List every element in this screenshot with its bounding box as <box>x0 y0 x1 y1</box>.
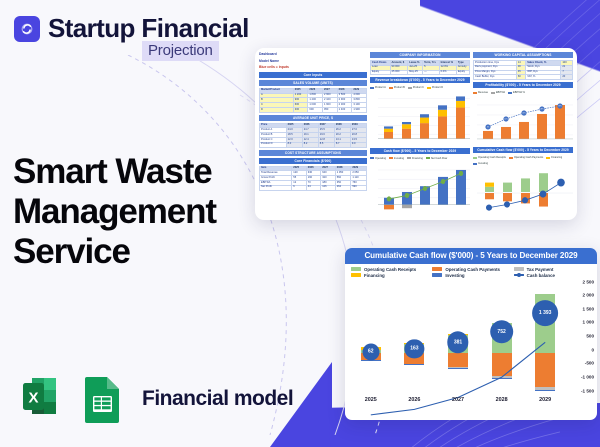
legend-item: Financing <box>546 156 562 159</box>
legend-item: Product C <box>408 86 424 89</box>
section-core-financials: Core Financials ($'000) <box>259 158 367 164</box>
x-axis-tick: 2028 <box>480 397 524 409</box>
google-sheets-icon <box>81 373 127 425</box>
y-axis-tick: 2 500 <box>583 279 595 284</box>
legend-item-tax-payment: Tax Payment <box>514 267 592 272</box>
y-axis-tick: -1 000 <box>581 374 594 379</box>
x-axis-tick: 2027 <box>436 397 480 409</box>
sales-volume-table: Market/Product20252026202720282029 A1 20… <box>259 88 367 113</box>
legend-label: Cash balance <box>527 273 555 278</box>
y-axis-tick: 1 000 <box>583 320 595 325</box>
x-axis-tick: 2029 <box>523 397 567 409</box>
legend-item: Product A <box>370 86 386 89</box>
swirl-glyph <box>18 20 36 38</box>
legend-label: Investing <box>445 273 464 278</box>
mini-legend-profitability: Revenue EBITDA EBITDA % <box>473 90 573 95</box>
table-row: Net Profit644126262590 <box>260 185 367 190</box>
mini-chart-profitability: 4%12%21% 29%37% <box>473 97 573 145</box>
legend-item: Revenue <box>473 91 488 94</box>
legend-swatch <box>351 273 361 277</box>
table-row: Equity45 000May-25—0.0%Equity <box>371 70 470 75</box>
dashboard-subtitle: Model Name <box>259 59 367 64</box>
dashboard-note: Blue cells = inputs <box>259 65 367 70</box>
legend-item: EBITDA <box>491 91 505 94</box>
page-title: Smart Waste Management Service <box>13 152 263 272</box>
dashboard-inputs-column: Dashboard Model Name Blue cells = inputs… <box>259 52 367 216</box>
table-row: D3006009501 4001 900 <box>260 107 367 112</box>
dashboard-preview-card[interactable]: Dashboard Model Name Blue cells = inputs… <box>255 48 577 220</box>
legend-item: Net Cash Flow <box>426 157 447 160</box>
y-axis-tick: 1 500 <box>583 306 595 311</box>
legend-item-cash-balance: Cash balance <box>514 273 592 278</box>
swirl-e-logo-icon <box>14 16 40 42</box>
brand-lockup: Startup Financial <box>14 13 249 44</box>
section-core-inputs: Core Inputs <box>259 72 367 78</box>
chart-title: Cumulative Cash flow ($'000) - 5 Years t… <box>345 248 597 264</box>
legend-swatch-line <box>514 274 524 276</box>
y-axis-tick: 2 000 <box>583 293 595 298</box>
chart-title-profitability: Profitability ($'000) - 5 Years to Decem… <box>473 82 573 88</box>
legend-label: Tax Payment <box>527 267 554 272</box>
legend-item: Investing <box>389 157 404 160</box>
chart-y-axis-labels: 2 5002 0001 5001 0005000-500-1 000-1 500 <box>569 282 595 391</box>
y-axis-tick: 0 <box>591 347 594 352</box>
dashboard-title: Dashboard <box>259 52 367 57</box>
legend-swatch <box>432 267 442 271</box>
mini-legend-revenue: Product A Product B Product C Product D <box>370 85 470 90</box>
legend-item-operating-cash-receipts: Operating Cash Receipts <box>351 267 429 272</box>
svg-text:X: X <box>28 390 38 407</box>
brand-name: Startup Financial <box>48 13 249 44</box>
legend-item-operating-cash-payments: Operating Cash Payments <box>432 267 510 272</box>
chart-title-revenue-breakdown: Revenue breakdown ($'000) - 5 Years to D… <box>370 77 470 83</box>
unit-price-table: Price20252026202720282029 Product A24.02… <box>259 123 367 148</box>
chart-legend: Operating Cash Receipts Operating Cash P… <box>345 264 597 280</box>
section-cost-structure: COST STRUCTURE ASSUMPTIONS <box>259 150 367 156</box>
section-sales-volume: SALES VOLUME (UNITS) <box>259 80 367 86</box>
footer-formats: X Financial model <box>18 373 293 425</box>
chart-title-cash-flow: Cash flow ($'000) - 5 Years to December … <box>370 148 470 154</box>
section-company-information: COMPANY INFORMATION <box>370 52 470 58</box>
mini-legend-cashflow: Operating Investing Financing Net Cash F… <box>370 156 470 161</box>
x-axis-tick: 2026 <box>393 397 437 409</box>
legend-label: Operating Cash Payments <box>445 267 500 272</box>
legend-item: Operating Cash Receipts <box>473 156 506 159</box>
table-row: Cash Buffer, Dys60VAT, %20 <box>474 75 573 80</box>
cumulative-cash-flow-card[interactable]: Cumulative Cash flow ($'000) - 5 Years t… <box>345 248 597 420</box>
y-axis-tick: 500 <box>586 334 594 339</box>
chart-x-axis-labels: 20252026202720282029 <box>349 397 567 409</box>
legend-item: Financing <box>407 157 423 160</box>
legend-item: Operating <box>370 157 386 160</box>
legend-item: EBITDA % <box>508 91 525 94</box>
legend-swatch <box>514 267 524 271</box>
legend-item: Product D <box>427 86 443 89</box>
y-axis-tick: -1 500 <box>581 388 594 393</box>
legend-item: Investing <box>473 162 488 165</box>
company-information-table: Cash FlowsAmount, $Lease %Term, YrsInter… <box>370 60 470 75</box>
working-capital-table: Production time, Dys14Sales Check, %100 … <box>473 60 573 80</box>
legend-label: Operating Cash Receipts <box>364 267 416 272</box>
legend-item-financing: Financing <box>351 273 429 278</box>
legend-item: Operating Cash Payments <box>509 156 543 159</box>
legend-swatch <box>351 267 361 271</box>
chart-plot-area: 621633817521 393 2 5002 0001 5001 000500… <box>345 280 597 413</box>
footer-label: Financial model <box>142 387 293 411</box>
x-axis-tick: 2025 <box>349 397 393 409</box>
poster-canvas: Startup Financial Projection Smart Waste… <box>0 0 600 447</box>
brand-subtitle-badge: Projection <box>142 41 219 61</box>
section-working-capital: WORKING CAPITAL ASSUMPTIONS <box>473 52 573 58</box>
mini-chart-cumulative-cash-flow <box>473 168 573 216</box>
legend-label: Financing <box>364 273 385 278</box>
mini-legend-cumulative: Operating Cash Receipts Operating Cash P… <box>473 155 573 166</box>
table-row: Product D8.08.28.58.79.0 <box>260 142 367 147</box>
microsoft-excel-icon: X <box>18 373 70 425</box>
dashboard-profitability-column: WORKING CAPITAL ASSUMPTIONS Production t… <box>473 52 573 216</box>
legend-swatch <box>432 273 442 277</box>
dashboard-revenue-column: COMPANY INFORMATION Cash FlowsAmount, $L… <box>370 52 470 216</box>
legend-item: Product B <box>389 86 405 89</box>
legend-item-investing: Investing <box>432 273 510 278</box>
core-financials-table: Item20252026202720282029 Total Revenue12… <box>259 166 367 191</box>
mini-chart-cash-flow <box>370 163 470 216</box>
mini-chart-revenue-breakdown <box>370 92 470 145</box>
y-axis-tick: -500 <box>585 361 594 366</box>
section-unit-price: AVERAGE UNIT PRICE, $ <box>259 115 367 121</box>
chart-title-cumulative-cash-flow-mini: Cumulative Cash flow ($'000) - 5 Years t… <box>473 147 573 153</box>
